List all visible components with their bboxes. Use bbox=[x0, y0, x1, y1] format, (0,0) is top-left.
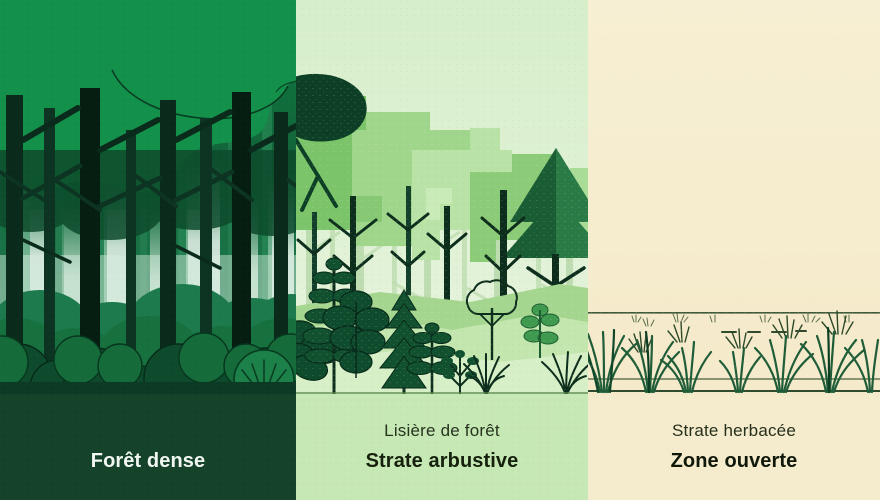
label-bands bbox=[0, 0, 880, 500]
forest-gradient-illustration: Forêt dense Lisière de forêt Strate arbu… bbox=[0, 0, 880, 500]
